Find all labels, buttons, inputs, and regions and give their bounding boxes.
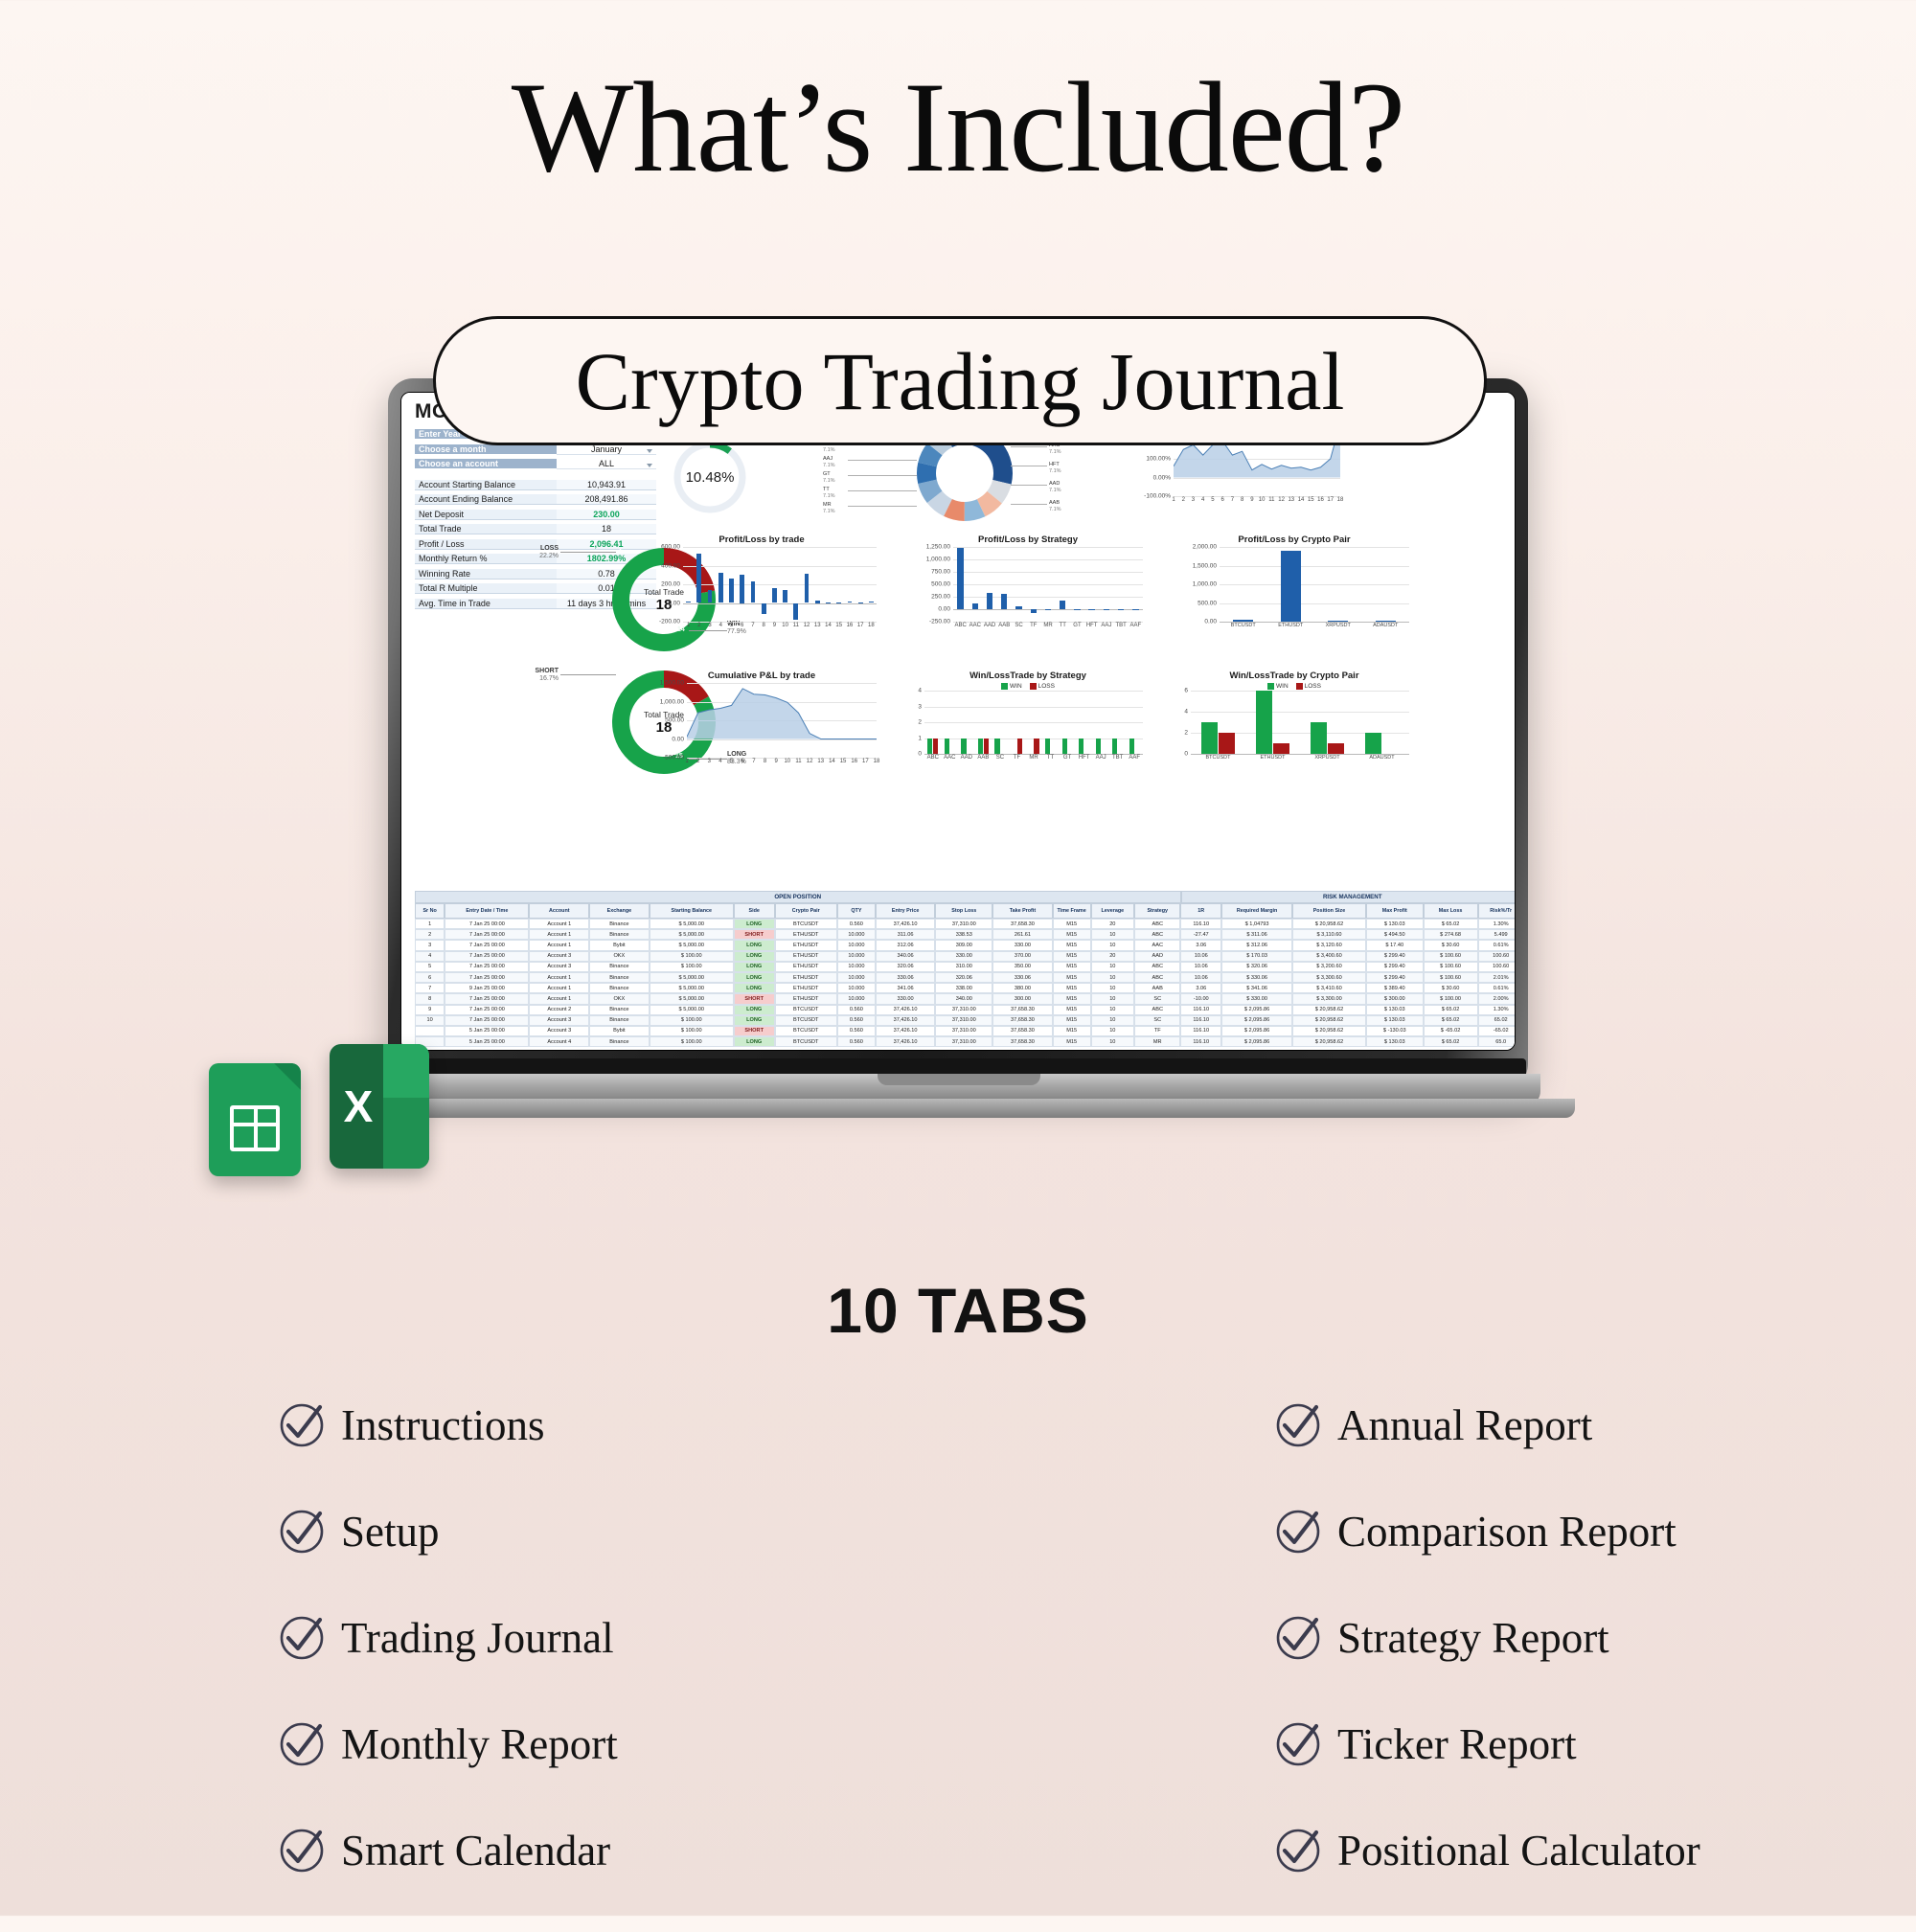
table-band: RISK MANAGEMENT [1181,891,1517,903]
table-cell: $ 20,958.62 [1292,1005,1366,1015]
x-axis-tick: TBT [1112,755,1123,761]
table-cell: 310.00 [935,962,992,972]
table-cell: ABC [1134,1005,1180,1015]
chart-bar [1256,691,1272,754]
table-cell: 37,658.30 [992,919,1053,929]
metric-row: Account Starting Balance10,943.91 [415,478,656,493]
table-cell: 37,310.00 [935,1015,992,1026]
table-cell: AAC [1134,940,1180,950]
table-column-header: Position Size [1292,903,1366,919]
table-row[interactable]: 107 Jan 25 00:00Account 3Binance$ 100.00… [415,1015,1516,1026]
metric-label: Net Deposit [415,510,557,520]
chart-bar [793,603,798,621]
x-axis-tick: 13 [817,759,824,764]
table-header-row: Sr NoEntry Date / TimeAccountExchangeSta… [415,903,1516,919]
table-cell: 10 [1091,983,1135,993]
y-axis-tick: 0.00% [1153,474,1171,481]
table-cell: Account 3 [529,1026,589,1036]
x-axis-tick: 7 [752,759,755,764]
checklist-item: Instructions [278,1400,618,1450]
table-cell: Binance [589,1005,650,1015]
x-axis-tick: 10 [782,623,788,628]
monthly-return-gauge: 10.48% [666,433,754,521]
table-cell: 116.10 [1180,1036,1221,1047]
gridline [953,584,1143,585]
y-axis-tick: 500.00 [665,717,684,724]
excel-icon[interactable]: X [330,1044,429,1169]
x-axis-tick: AAB [998,623,1010,628]
table-cell: 10.000 [837,962,876,972]
chart-bar [1079,739,1083,755]
chart-bar [994,739,999,755]
chart-legend: WINLOSS [909,683,1147,690]
table-cell: Binance [589,983,650,993]
y-axis-tick: 2 [918,719,922,726]
chart-bar [815,601,820,602]
table-cell: $ 130.03 [1366,1036,1424,1047]
table-cell: 10.000 [837,929,876,940]
leader-line [1011,466,1047,466]
table-cell: $ 2,095.86 [1221,1005,1292,1015]
x-axis-tick: 1 [687,623,690,628]
table-cell: 37,426.10 [876,1026,936,1036]
checklist-item-label: Strategy Report [1337,1613,1609,1663]
table-cell: 10.06 [1180,951,1221,962]
y-axis-tick: -200.00 [659,619,680,625]
table-row[interactable]: 67 Jan 25 00:00Account 1Binance$ 5,000.0… [415,972,1516,983]
selector-value[interactable]: January [557,444,656,455]
table-column-header: Risk%/Tr [1478,903,1517,919]
table-cell: 10 [1091,993,1135,1004]
checklist-item-label: Trading Journal [341,1613,614,1663]
donut-short-label: SHORT 16.7% [505,668,559,683]
positions-table: OPEN POSITIONRISK MANAGEMENT Sr NoEntry … [415,891,1516,1047]
table-cell: 0.61% [1478,983,1517,993]
leader-line [560,674,616,675]
y-axis-tick: -500.00 [663,755,684,761]
table-cell: $ -130.03 [1366,1026,1424,1036]
table-cell: $ 100.60 [1424,951,1478,962]
x-axis-tick: 8 [764,759,766,764]
table-cell: AAD [1134,951,1180,962]
table-cell: $ 130.03 [1366,1005,1424,1015]
table-cell: SC [1134,1015,1180,1026]
table-column-header: Account [529,903,589,919]
loss-label-text: LOSS [509,545,559,553]
selector-label: Choose an account [415,459,557,469]
y-axis-tick: 3 [918,703,922,710]
table-cell: $ 330.06 [1221,972,1292,983]
table-cell: 37,426.10 [876,1005,936,1015]
table-cell: $ 5,000.00 [650,929,734,940]
table-cell: SC [1134,993,1180,1004]
checklist-item: Setup [278,1507,618,1557]
table-cell: 330.00 [935,951,992,962]
table-row[interactable]: 57 Jan 25 00:00Account 3Binance$ 100.00L… [415,962,1516,972]
table-cell: Account 1 [529,929,589,940]
pie-callout-label: AAB7.1% [1049,500,1061,513]
y-axis-tick: -250.00 [929,619,950,625]
table-cell: 6 [415,972,445,983]
checklist-item: Annual Report [1274,1400,1676,1450]
x-axis-tick: 8 [1241,497,1243,503]
selector-value[interactable]: ALL [557,459,656,469]
loss-count: 4 [618,549,622,556]
table-cell: Account 1 [529,940,589,950]
x-axis-tick: 14 [1298,497,1305,503]
legend-entry: WIN [1001,683,1022,690]
chart-bar [978,739,983,755]
table-cell: 7 Jan 25 00:00 [445,972,529,983]
table-cell: $ 65.02 [1424,919,1478,929]
selector-value-text: ALL [599,459,614,468]
gridline [953,559,1143,560]
table-cell: 2 [415,929,445,940]
table-cell: $ 274.68 [1424,929,1478,940]
table-cell: BTCUSDT [775,919,837,929]
table-cell: 65.0 [1478,1036,1517,1047]
chart-bar [1219,733,1235,754]
x-axis-tick: 13 [814,623,821,628]
chart-bar [762,603,766,615]
x-axis-tick: 15 [840,759,847,764]
laptop-foot [342,1099,1575,1118]
x-axis-tick: 5 [730,623,733,628]
y-axis-tick: 0.00 [938,606,950,613]
chart-plot: 1,250.001,000.00750.00500.00250.000.00-2… [953,547,1143,622]
zero-line [683,603,877,604]
table-cell: BTCUSDT [775,1036,837,1047]
checklist-item-label: Setup [341,1507,440,1557]
pie-callout-label: GT7.1% [823,471,835,485]
sheet-grid-glyph [230,1105,280,1151]
x-axis-tick: 14 [825,623,832,628]
table-row[interactable]: 5 Jan 25 00:00Account 4Binance$ 100.00LO… [415,1036,1516,1047]
gridline [924,707,1143,708]
metric-label: Account Starting Balance [415,480,557,490]
table-cell: 116.10 [1180,919,1221,929]
chart-bar [1104,609,1109,610]
x-axis-tick: 10 [784,759,790,764]
table-cell: TF [1134,1026,1180,1036]
table-row[interactable]: 47 Jan 25 00:00Account 3OKX$ 100.00LONGE… [415,951,1516,962]
table-cell: 4 [415,951,445,962]
chart-plot: 43210 [924,691,1143,754]
table-cell: 37,658.30 [992,1036,1053,1047]
table-cell: OKX [589,993,650,1004]
table-cell: Account 4 [529,1036,589,1047]
table-cell: $ 494.50 [1366,929,1424,940]
chart-bar [708,590,713,603]
chart-bar [869,602,874,602]
table-cell: 320.06 [876,962,936,972]
table-row[interactable]: 37 Jan 25 00:00Account 1Bybit$ 5,000.00L… [415,940,1516,950]
table-cell: M15 [1053,993,1091,1004]
table-cell: AAB [1134,983,1180,993]
x-axis-tick: 7 [1231,497,1234,503]
loss-pct-text: 22.2% [539,553,559,559]
x-axis-tick: 9 [1250,497,1253,503]
chart-bar [1088,609,1094,610]
y-axis-tick: 750.00 [931,569,950,576]
chart-bar [1001,594,1007,609]
table-cell: 10.06 [1180,972,1221,983]
selector-row-account[interactable]: Choose an account ALL [415,457,656,472]
x-axis-tick: 16 [847,623,854,628]
chart-bar [772,588,777,603]
table-cell: $ 5,000.00 [650,983,734,993]
checklist-item: Trading Journal [278,1613,618,1663]
leader-line [1011,485,1047,486]
y-axis-tick: 1,250.00 [926,544,950,551]
table-row[interactable]: 17 Jan 25 00:00Account 1Binance$ 5,000.0… [415,919,1516,929]
leader-line [1011,446,1047,447]
table-cell: M15 [1053,940,1091,950]
x-axis-tick: 10 [1259,497,1266,503]
table-cell: 7 Jan 25 00:00 [445,1015,529,1026]
table-cell: $ 3,110.60 [1292,929,1366,940]
table-cell: SHORT [734,929,775,940]
check-circle-icon [278,1827,326,1875]
table-cell: $ 130.03 [1366,919,1424,929]
y-axis-tick: 4 [1184,709,1188,716]
table-cell: $ 299.40 [1366,962,1424,972]
table-cell: $ 320.06 [1221,962,1292,972]
table-cell: 10.000 [837,951,876,962]
gauge-value: 10.48% [666,433,754,521]
x-axis-tick: 16 [851,759,857,764]
x-axis-tick: 9 [773,623,776,628]
table-cell: 10 [1091,940,1135,950]
table-cell: LONG [734,940,775,950]
table-cell: $ 100.00 [1424,993,1478,1004]
table-cell: MR [1134,1036,1180,1047]
laptop-mockup: MONTHLY REPORT Enter Year 2025 Choose a … [376,378,1540,1135]
chart-bar [751,581,756,602]
x-axis-tick: 2 [696,759,699,764]
x-axis: 123456789101112131415161718 [1174,496,1340,506]
x-axis-tick: 18 [868,623,875,628]
excel-panel-top [383,1044,429,1098]
x-axis-tick: MR [1043,623,1052,628]
leader-line [848,475,917,476]
table-column-header: Max Profit [1366,903,1424,919]
x-axis-tick: 2 [1182,497,1185,503]
chevron-down-icon[interactable] [647,449,652,453]
table-row[interactable]: 5 Jan 25 00:00Account 3Bybit$ 100.00SHOR… [415,1026,1516,1036]
table-column-header: Take Profit [992,903,1053,919]
gridline [683,584,877,585]
x-axis-tick: AAD [961,755,972,761]
table-cell: Account 1 [529,919,589,929]
chart-bar [972,603,978,609]
x-axis-tick: ABC [927,755,939,761]
spreadsheet-dashboard: MONTHLY REPORT Enter Year 2025 Choose a … [401,393,1515,1050]
table-cell: Binance [589,1015,650,1026]
checklist-item: Comparison Report [1274,1507,1676,1557]
pie-callout-label: AAD7.1% [1049,481,1061,494]
x-axis-tick: 6 [741,623,743,628]
table-cell: BTCUSDT [775,1015,837,1026]
x-axis-tick: 11 [1268,497,1274,503]
check-circle-icon [278,1614,326,1662]
table-cell: 7 Jan 25 00:00 [445,993,529,1004]
chart-bar [686,602,691,603]
metric-label: Account Ending Balance [415,494,557,505]
pie-callout-label: TT7.1% [823,487,835,500]
table-cell: 350.00 [992,962,1053,972]
table-cell: 5 Jan 25 00:00 [445,1026,529,1036]
table-cell: Bybit [589,1026,650,1036]
checklist-item-label: Comparison Report [1337,1507,1676,1557]
x-axis-tick: 12 [1278,497,1285,503]
table-cell: $ 100.00 [650,1015,734,1026]
table-cell: ETHUSDT [775,951,837,962]
chart-bar [805,574,810,602]
table-cell: SHORT [734,1026,775,1036]
table-cell: 37,310.00 [935,1005,992,1015]
table-cell: $ 20,958.62 [1292,919,1366,929]
x-axis-tick: TT [1060,623,1066,628]
table-row[interactable]: 97 Jan 25 00:00Account 2Binance$ 5,000.0… [415,1005,1516,1015]
table-cell: $ 5,000.00 [650,940,734,950]
table-cell: M15 [1053,1015,1091,1026]
x-axis-tick: TT [1047,755,1054,761]
legend-entry: LOSS [1030,683,1055,690]
table-row[interactable]: 27 Jan 25 00:00Account 1Binance$ 5,000.0… [415,929,1516,940]
table-cell: 20 [1091,919,1135,929]
table-cell: LONG [734,962,775,972]
table-cell: 10 [1091,1015,1135,1026]
x-axis-tick: 3 [708,759,711,764]
table-cell: 0.560 [837,1036,876,1047]
leader-line [848,490,917,491]
chart-bar [945,739,949,755]
table-cell: LONG [734,919,775,929]
x-axis-tick: 11 [795,759,801,764]
chevron-down-icon[interactable] [647,464,652,467]
chart-cumulative-pl: Cumulative P&L by trade1,500.001,000.005… [643,671,880,795]
table-cell: LONG [734,972,775,983]
x-axis-tick: 9 [775,759,778,764]
x-axis-tick: 18 [874,759,880,764]
table-cell: ABC [1134,929,1180,940]
chart-bar [783,590,787,603]
table-cell: 330.00 [876,993,936,1004]
chart-bar [1112,739,1117,755]
table-row[interactable]: 79 Jan 25 00:00Account 1Binance$ 5,000.0… [415,983,1516,993]
gridline [683,566,877,567]
y-axis-tick: 0.00 [1204,619,1217,625]
gridline [953,597,1143,598]
table-cell: Account 1 [529,983,589,993]
table-column-header: Max Loss [1424,903,1478,919]
leader-line [848,506,917,507]
table-column-header: Time Frame [1053,903,1091,919]
metric-row: Total Trade18 [415,522,656,537]
chart-winloss-strategy: Win/LossTrade by StrategyWINLOSS43210ABC… [909,671,1147,795]
table-cell: 10 [1091,1005,1135,1015]
table-cell: 10.000 [837,993,876,1004]
pie-callout-label: HFT7.1% [1049,462,1061,475]
table-cell [415,1026,445,1036]
table-cell: $ 341.06 [1221,983,1292,993]
checklist-item: Positional Calculator [1274,1826,1676,1875]
table-cell: 116.10 [1180,1015,1221,1026]
selector-label: Choose a month [415,444,557,455]
table-cell: 7 Jan 25 00:00 [445,1005,529,1015]
chart-bar [848,602,853,603]
table-cell: 380.00 [992,983,1053,993]
table-row[interactable]: 87 Jan 25 00:00Account 1OKX$ 5,000.00SHO… [415,993,1516,1004]
table-cell: Account 3 [529,951,589,962]
table-cell: $ 100.60 [1424,962,1478,972]
x-axis-tick: 4 [719,623,722,628]
metric-label: Winning Rate [415,569,557,580]
table-cell: $ -65.02 [1424,1026,1478,1036]
table-cell: 100.60 [1478,962,1517,972]
y-axis-tick: 500.00 [931,581,950,588]
chart-title: Win/LossTrade by Crypto Pair [1175,671,1413,681]
table-cell: $ 20,958.62 [1292,1036,1366,1047]
x-axis-tick: 12 [807,759,813,764]
google-sheets-icon[interactable] [209,1063,301,1176]
gridline [1220,603,1409,604]
x-axis: 123456789101112131415161718 [683,622,877,632]
y-axis-tick: -100.00% [1144,493,1171,500]
table-cell: $ 5,000.00 [650,972,734,983]
x-axis-tick: TF [1014,755,1020,761]
table-cell: 5.499 [1478,929,1517,940]
table-cell: 7 Jan 25 00:00 [445,951,529,962]
table-cell: $ 3,120.60 [1292,940,1366,950]
table-cell: $ 389.40 [1366,983,1424,993]
table-cell: 9 [415,1005,445,1015]
chart-bar [933,739,938,755]
chart-pl-by-trade: Profit/Loss by trade600.00400.00200.000.… [643,534,880,659]
x-axis-tick: AAD [984,623,995,628]
x-axis-tick: 15 [835,623,842,628]
chart-bar [696,554,701,603]
checklist-item-label: Ticker Report [1337,1719,1577,1769]
x-axis-tick: AAC [969,623,981,628]
y-axis-tick: 600.00 [661,544,680,551]
x-axis: ABCAACAADAABSCTFMRTTGTHFTAAJTBTAAF [953,622,1143,632]
table-cell: 300.00 [992,993,1053,1004]
gridline [924,722,1143,723]
table-cell: M15 [1053,929,1091,940]
x-axis-tick: 4 [1201,497,1204,503]
tabs-count-heading: 10 TABS [0,1274,1916,1347]
leader-line [848,460,917,461]
x-axis-tick: BTCUSDT [1206,755,1231,761]
table-cell: 7 Jan 25 00:00 [445,929,529,940]
table-cell: 340.06 [876,951,936,962]
gridline [1220,547,1409,548]
checklist-item: Monthly Report [278,1719,618,1769]
table-cell: 37,426.10 [876,919,936,929]
donut-loss-label: LOSS 22.2% [509,545,559,560]
table-cell: 10 [1091,1036,1135,1047]
table-cell: 312.06 [876,940,936,950]
legend-entry: WIN [1267,683,1289,690]
leader-line [1011,504,1047,505]
table-cell: $ 170.03 [1221,951,1292,962]
y-axis-tick: 2 [1184,730,1188,737]
table-cell: M15 [1053,1005,1091,1015]
chart-bar [1281,551,1301,622]
gridline [683,547,877,548]
